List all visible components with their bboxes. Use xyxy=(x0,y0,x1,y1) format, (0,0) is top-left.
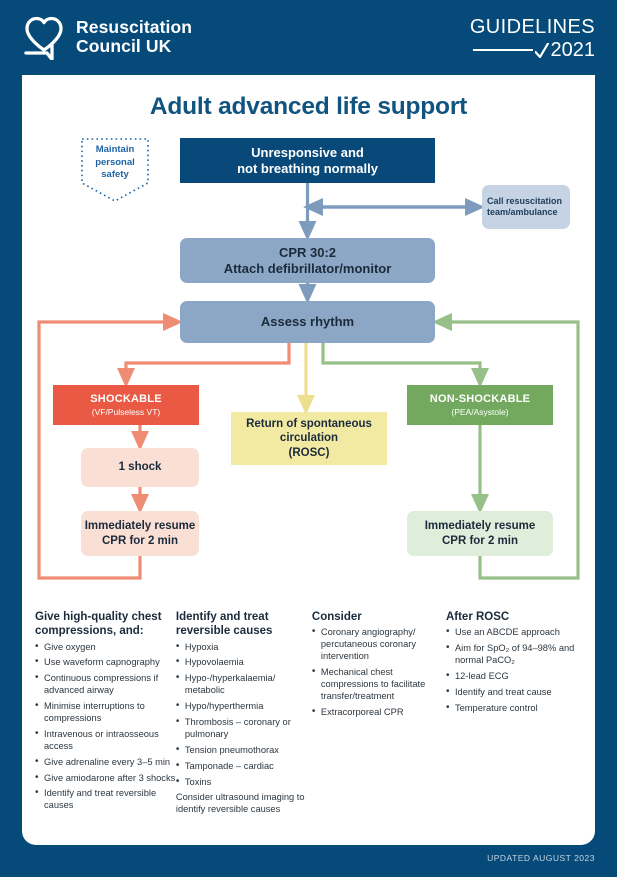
poster-page: Resuscitation Council UK GUIDELINES 2021… xyxy=(0,0,617,877)
heart-tick-icon xyxy=(22,14,66,60)
list-item: Aim for SpO₂ of 94–98% and normal PaCO₂ xyxy=(446,643,582,667)
column-list: Coronary angiography/ percutaneous coron… xyxy=(312,627,446,718)
non-shockable-subtitle: (PEA/Asystole) xyxy=(451,407,508,417)
list-item: Temperature control xyxy=(446,703,582,715)
node-maintain-safety: Maintain personal safety xyxy=(80,137,150,203)
unresponsive-line-2: not breathing normally xyxy=(237,161,378,177)
node-one-shock: 1 shock xyxy=(81,448,199,487)
node-resume-cpr-non-shockable: Immediately resume CPR for 2 min xyxy=(407,511,553,556)
list-item: Use waveform capnography xyxy=(35,657,176,669)
column-consider: Consider Coronary angiography/ percutane… xyxy=(312,610,446,825)
resume-red-line-2: CPR for 2 min xyxy=(85,534,196,548)
list-item: Hypo/hyperthermia xyxy=(176,701,312,713)
column-list: Use an ABCDE approach Aim for SpO₂ of 94… xyxy=(446,627,582,714)
list-item: Identify and treat cause xyxy=(446,687,582,699)
safety-line-3: safety xyxy=(101,169,128,182)
list-item: Coronary angiography/ percutaneous coron… xyxy=(312,627,446,663)
resume-red-line-1: Immediately resume xyxy=(85,519,196,533)
poster-card: Adult advanced life support xyxy=(22,75,595,845)
rosc-line-2: circulation xyxy=(280,431,338,445)
list-item: Tamponade – cardiac xyxy=(176,761,312,773)
assess-rhythm-label: Assess rhythm xyxy=(261,314,354,330)
column-heading: Consider xyxy=(312,610,446,624)
column-note: Consider ultrasound imaging to identify … xyxy=(176,792,312,816)
rosc-line-3: (ROSC) xyxy=(289,446,330,460)
resume-green-line-1: Immediately resume xyxy=(425,519,536,533)
list-item: Tension pneumothorax xyxy=(176,745,312,757)
shockable-subtitle: (VF/Pulseless VT) xyxy=(92,407,161,417)
call-line-1: Call resuscitation xyxy=(487,196,562,207)
column-list: Hypoxia Hypovolaemia Hypo-/hyperkalaemia… xyxy=(176,642,312,789)
list-item: Intravenous or intraosseous access xyxy=(35,729,176,753)
cpr-line-2: Attach defibrillator/monitor xyxy=(224,261,392,277)
list-item: Use an ABCDE approach xyxy=(446,627,582,639)
header-bar: Resuscitation Council UK GUIDELINES 2021 xyxy=(0,0,617,75)
resume-green-line-2: CPR for 2 min xyxy=(425,534,536,548)
node-shockable: SHOCKABLE (VF/Pulseless VT) xyxy=(53,385,199,425)
safety-line-1: Maintain xyxy=(96,144,135,157)
column-heading: After ROSC xyxy=(446,610,582,624)
algorithm-flowchart: Maintain personal safety Unresponsive an… xyxy=(22,75,595,605)
list-item: Give adrenaline every 3–5 min xyxy=(35,757,176,769)
brand-name: Resuscitation Council UK xyxy=(76,18,192,56)
list-item: Give amiodarone after 3 shocks xyxy=(35,773,176,785)
node-assess-rhythm: Assess rhythm xyxy=(180,301,435,343)
guidance-columns: Give high-quality chest compressions, an… xyxy=(22,610,595,825)
footer-updated-date: UPDATED AUGUST 2023 xyxy=(487,853,595,863)
brand-name-line1: Resuscitation xyxy=(76,18,192,37)
list-item: Identify and treat reversible causes xyxy=(35,788,176,812)
list-item: Toxins xyxy=(176,777,312,789)
guidelines-year: 2021 xyxy=(551,40,596,60)
unresponsive-line-1: Unresponsive and xyxy=(237,145,378,161)
brand-name-line2: Council UK xyxy=(76,37,192,56)
one-shock-label: 1 shock xyxy=(119,460,162,474)
rosc-line-1: Return of spontaneous xyxy=(246,417,372,431)
list-item: Extracorporeal CPR xyxy=(312,707,446,719)
node-unresponsive: Unresponsive and not breathing normally xyxy=(180,138,435,183)
list-item: Hypo-/hyperkalaemia/ metabolic xyxy=(176,673,312,697)
brand-logo: Resuscitation Council UK xyxy=(22,14,192,60)
column-reversible-causes: Identify and treat reversible causes Hyp… xyxy=(176,610,312,825)
list-item: Minimise interruptions to compressions xyxy=(35,701,176,725)
node-call-resuscitation-team: Call resuscitation team/ambulance xyxy=(482,185,570,229)
list-item: Continuous compressions if advanced airw… xyxy=(35,673,176,697)
column-after-rosc: After ROSC Use an ABCDE approach Aim for… xyxy=(446,610,582,825)
guidelines-rule xyxy=(473,49,533,51)
node-non-shockable: NON-SHOCKABLE (PEA/Asystole) xyxy=(407,385,553,425)
guidelines-label: GUIDELINES xyxy=(470,17,595,38)
node-rosc: Return of spontaneous circulation (ROSC) xyxy=(231,412,387,465)
guidelines-badge: GUIDELINES 2021 xyxy=(470,17,595,60)
cpr-line-1: CPR 30:2 xyxy=(224,245,392,261)
column-heading: Identify and treat reversible causes xyxy=(176,610,312,639)
shockable-title: SHOCKABLE xyxy=(90,393,161,406)
list-item: Mechanical chest compressions to facilit… xyxy=(312,667,446,703)
column-chest-compressions: Give high-quality chest compressions, an… xyxy=(35,610,176,825)
column-heading: Give high-quality chest compressions, an… xyxy=(35,610,176,639)
list-item: Hypovolaemia xyxy=(176,657,312,669)
list-item: Thrombosis – coronary or pulmonary xyxy=(176,717,312,741)
column-list: Give oxygen Use waveform capnography Con… xyxy=(35,642,176,813)
guidelines-year-row: 2021 xyxy=(470,40,595,60)
list-item: 12-lead ECG xyxy=(446,671,582,683)
node-resume-cpr-shockable: Immediately resume CPR for 2 min xyxy=(81,511,199,556)
check-tick-icon xyxy=(535,43,549,58)
list-item: Hypoxia xyxy=(176,642,312,654)
non-shockable-title: NON-SHOCKABLE xyxy=(430,393,530,406)
node-cpr-attach-defibrillator: CPR 30:2 Attach defibrillator/monitor xyxy=(180,238,435,283)
list-item: Give oxygen xyxy=(35,642,176,654)
call-line-2: team/ambulance xyxy=(487,207,562,218)
safety-line-2: personal xyxy=(95,157,135,170)
